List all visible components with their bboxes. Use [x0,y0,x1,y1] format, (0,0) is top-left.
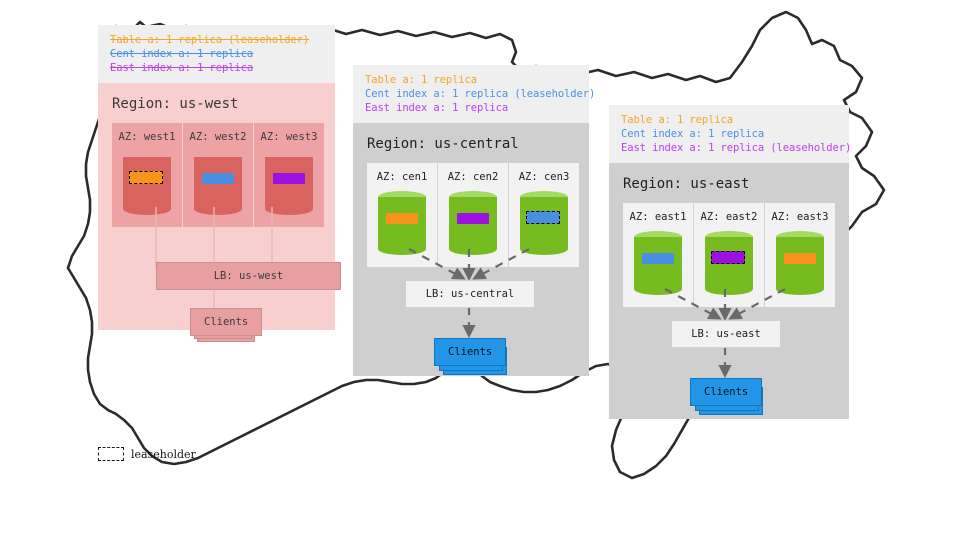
clients-us-west[interactable]: Clients [190,308,262,336]
node-cylinder-east2[interactable] [705,231,753,295]
legend-line-east: East index a: 1 replica [365,101,579,115]
clients-label-us-central[interactable]: Clients [434,338,506,366]
az-row-us-central: AZ: cen1 AZ: cen2 [367,163,589,267]
node-cylinder-west1[interactable] [123,151,171,215]
dashed-rectangle-icon [98,447,124,461]
node-cylinder-east1[interactable] [634,231,682,295]
node-cylinder-west2[interactable] [194,151,242,215]
az-row-us-east: AZ: east1 AZ: east2 [623,203,849,307]
region-legend-us-east: Table a: 1 replica Cent index a: 1 repli… [609,105,849,163]
load-balancer-us-east[interactable]: LB: us-east [671,320,781,348]
az-box-cen2[interactable]: AZ: cen2 [438,163,509,267]
region-legend-us-west: Table a: 1 replica (leaseholder) Cent in… [98,25,335,83]
leaseholder-legend-label: leaseholder [131,448,196,461]
legend-line-table: Table a: 1 replica [621,113,839,127]
az-box-cen3[interactable]: AZ: cen3 [509,163,579,267]
az-label-east1: AZ: east1 [630,211,687,223]
legend-line-cent: Cent index a: 1 replica [621,127,839,141]
clients-us-central[interactable]: Clients [434,338,506,366]
az-box-west2[interactable]: AZ: west2 [183,123,254,227]
az-label-west2: AZ: west2 [190,131,247,143]
clients-label-us-west[interactable]: Clients [190,308,262,336]
az-box-east1[interactable]: AZ: east1 [623,203,694,307]
replica-chip-cent-index-a[interactable] [202,173,234,184]
legend-line-table: Table a: 1 replica (leaseholder) [110,33,325,47]
replica-chip-east-index-a-leaseholder[interactable] [711,251,745,264]
az-box-east3[interactable]: AZ: east3 [765,203,835,307]
region-us-west: Table a: 1 replica (leaseholder) Cent in… [98,25,335,330]
az-label-west3: AZ: west3 [261,131,318,143]
region-body-us-east: Region: us-east AZ: east1 AZ: east2 [609,163,849,419]
az-label-west1: AZ: west1 [119,131,176,143]
region-title-us-east: Region: us-east [609,163,849,203]
region-us-central: Table a: 1 replica Cent index a: 1 repli… [353,65,589,376]
az-label-cen2: AZ: cen2 [448,171,499,183]
node-cylinder-west3[interactable] [265,151,313,215]
region-body-us-central: Region: us-central AZ: cen1 AZ: cen2 [353,123,589,376]
az-row-us-west: AZ: west1 AZ: west2 [112,123,335,227]
az-box-east2[interactable]: AZ: east2 [694,203,765,307]
node-cylinder-east3[interactable] [776,231,824,295]
az-box-west1[interactable]: AZ: west1 [112,123,183,227]
legend-line-cent: Cent index a: 1 replica [110,47,325,61]
leaseholder-legend: leaseholder [98,447,196,461]
replica-chip-table-a-leaseholder[interactable] [129,171,163,184]
replica-chip-cent-index-a-leaseholder[interactable] [526,211,560,224]
legend-line-east: East index a: 1 replica (leaseholder) [621,141,839,155]
node-cylinder-cen1[interactable] [378,191,426,255]
legend-line-cent: Cent index a: 1 replica (leaseholder) [365,87,579,101]
node-cylinder-cen2[interactable] [449,191,497,255]
clients-us-east[interactable]: Clients [690,378,762,406]
clients-label-us-east[interactable]: Clients [690,378,762,406]
region-legend-us-central: Table a: 1 replica Cent index a: 1 repli… [353,65,589,123]
az-label-east3: AZ: east3 [772,211,829,223]
replica-chip-east-index-a[interactable] [273,173,305,184]
node-cylinder-cen3[interactable] [520,191,568,255]
region-us-east: Table a: 1 replica Cent index a: 1 repli… [609,105,849,419]
az-label-cen3: AZ: cen3 [519,171,570,183]
region-title-us-west: Region: us-west [98,83,335,123]
load-balancer-us-west[interactable]: LB: us-west [156,262,341,290]
diagram-canvas: Table a: 1 replica (leaseholder) Cent in… [0,0,960,540]
load-balancer-us-central[interactable]: LB: us-central [405,280,535,308]
az-label-east2: AZ: east2 [701,211,758,223]
region-body-us-west: Region: us-west AZ: west1 AZ: west2 [98,83,335,330]
az-label-cen1: AZ: cen1 [377,171,428,183]
replica-chip-table-a[interactable] [386,213,418,224]
replica-chip-table-a[interactable] [784,253,816,264]
legend-line-east: East index a: 1 replica [110,61,325,75]
az-box-west3[interactable]: AZ: west3 [254,123,324,227]
replica-chip-cent-index-a[interactable] [642,253,674,264]
region-title-us-central: Region: us-central [353,123,589,163]
replica-chip-east-index-a[interactable] [457,213,489,224]
az-box-cen1[interactable]: AZ: cen1 [367,163,438,267]
legend-line-table: Table a: 1 replica [365,73,579,87]
